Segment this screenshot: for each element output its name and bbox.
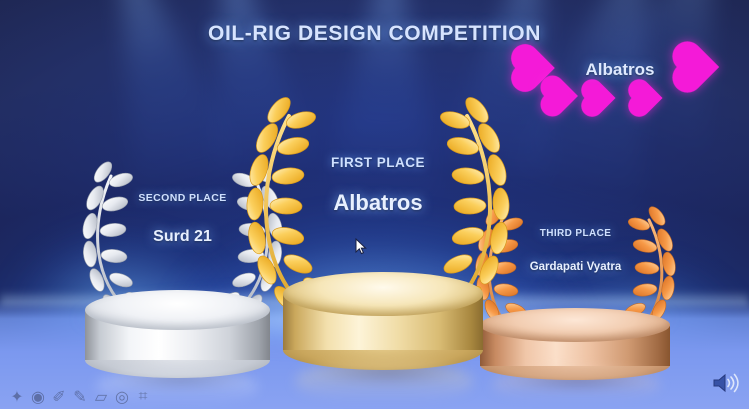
page-title: OIL-RIG DESIGN COMPETITION xyxy=(0,22,749,46)
heart-icon-5 xyxy=(631,82,662,113)
highlighter-icon[interactable]: ✎ xyxy=(73,390,87,404)
presentation-toolbar[interactable]: ✦ ◉ ✐ ✎ ▱ ◎ ⌗ xyxy=(10,390,150,404)
heart-icon-3 xyxy=(544,79,578,113)
volume-speaker-icon[interactable] xyxy=(711,371,741,395)
laser-icon[interactable]: ◉ xyxy=(31,390,45,404)
heart-icon-4 xyxy=(584,82,615,113)
reaction-label: Albatros xyxy=(555,60,685,80)
mouse-cursor-icon xyxy=(355,238,367,256)
eraser-icon[interactable]: ▱ xyxy=(94,390,108,404)
grid-icon[interactable]: ⌗ xyxy=(136,390,150,404)
podium-reflection-third xyxy=(492,368,660,400)
place-label-first: FIRST PLACE xyxy=(243,155,513,170)
team-name-first: Albatros xyxy=(243,190,513,216)
podium-reflection-first xyxy=(295,360,473,402)
slide-stage: OIL-RIG DESIGN COMPETITION Albatros xyxy=(0,0,749,409)
pointer-icon[interactable]: ✦ xyxy=(10,390,24,404)
reaction-overlay: Albatros xyxy=(505,44,735,114)
podium-first-top xyxy=(283,272,483,316)
podium-first xyxy=(283,272,483,370)
options-icon[interactable]: ◎ xyxy=(115,390,129,404)
pen-icon[interactable]: ✐ xyxy=(52,390,66,404)
